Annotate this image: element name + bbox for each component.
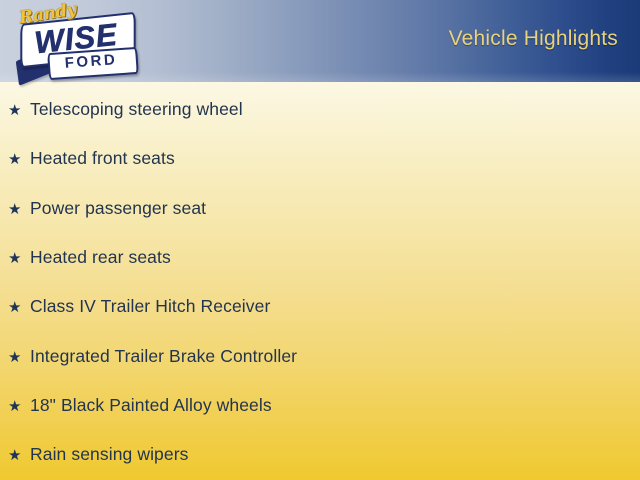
star-icon: ★: [8, 448, 30, 463]
highlight-item-label: Integrated Trailer Brake Controller: [30, 348, 297, 366]
star-icon: ★: [8, 399, 30, 414]
dealer-logo[interactable]: WISE Randy FORD: [6, 2, 142, 84]
highlight-item-label: Power passenger seat: [30, 200, 206, 218]
highlight-item-label: 18" Black Painted Alloy wheels: [30, 397, 272, 415]
highlight-item: ★Heated front seats: [8, 150, 175, 168]
star-icon: ★: [8, 103, 30, 118]
highlight-item-label: Telescoping steering wheel: [30, 101, 243, 119]
highlight-item: ★Rain sensing wipers: [8, 446, 189, 464]
star-icon: ★: [8, 251, 30, 266]
highlight-item-label: Heated front seats: [30, 150, 175, 168]
highlights-list: ★Telescoping steering wheel★Heated front…: [0, 82, 640, 480]
star-icon: ★: [8, 350, 30, 365]
highlight-item: ★Telescoping steering wheel: [8, 101, 243, 119]
star-icon: ★: [8, 152, 30, 167]
highlight-item: ★Integrated Trailer Brake Controller: [8, 348, 297, 366]
star-icon: ★: [8, 202, 30, 217]
highlight-item: ★18" Black Painted Alloy wheels: [8, 397, 272, 415]
highlight-item-label: Rain sensing wipers: [30, 446, 189, 464]
highlight-item: ★Heated rear seats: [8, 249, 171, 267]
highlight-item: ★Power passenger seat: [8, 200, 206, 218]
highlight-item-label: Class IV Trailer Hitch Receiver: [30, 298, 270, 316]
vehicle-highlights-page: Vehicle Highlights WISE Randy FORD ★Tele…: [0, 0, 640, 480]
highlight-item: ★Class IV Trailer Hitch Receiver: [8, 298, 270, 316]
star-icon: ★: [8, 300, 30, 315]
highlight-item-label: Heated rear seats: [30, 249, 171, 267]
page-title: Vehicle Highlights: [449, 27, 618, 51]
